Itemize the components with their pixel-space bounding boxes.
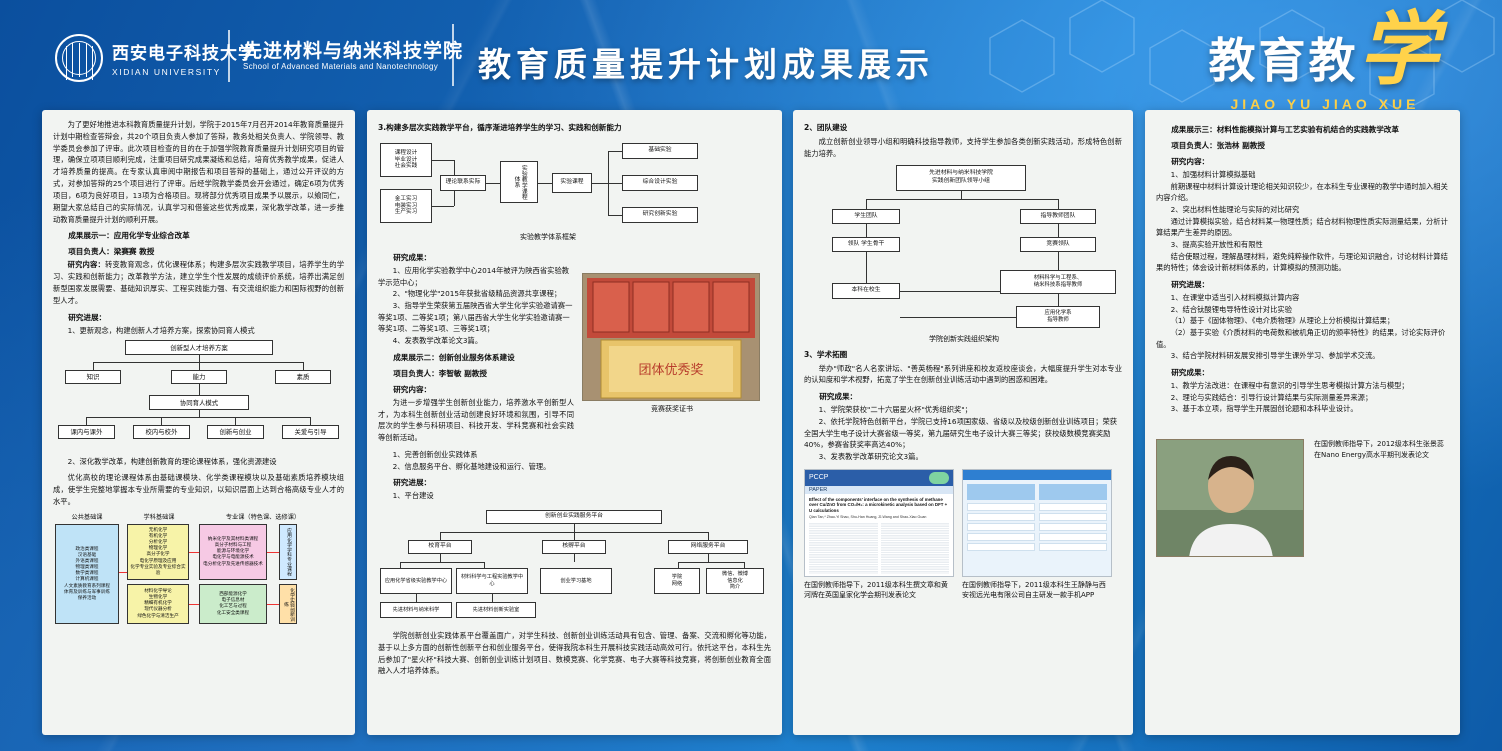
col1-ach1-leader-label: 项目负责人： xyxy=(68,247,114,256)
col4-leader-name: 张浩林 副教授 xyxy=(1217,141,1265,150)
list-item: 前期课程中材料计算设计理论相关知识较少，在本科生专业课程的教学中通时加入相关内容… xyxy=(1156,181,1449,204)
col2-progress-label: 研究进展： xyxy=(378,477,574,488)
plat-r3-1: 先进材料创新实验室 xyxy=(456,602,536,618)
column-4-panel: 成果展示三：材料性能模拟计算与工艺实验有机结合的实践教学改革 项目负责人：张浩林… xyxy=(1145,110,1460,735)
diagram2-right-label-1: 应用化学学科专业课程 xyxy=(279,524,297,580)
col4-results-label: 研究成果： xyxy=(1156,367,1449,378)
col1-intro: 为了更好地推进本科教育质量提升计划，学院于2015年7月召开2014年教育质量提… xyxy=(53,119,344,225)
list-item: 1、平台建设 xyxy=(378,490,574,502)
svg-text:团体优秀奖: 团体优秀奖 xyxy=(638,363,703,378)
award-certificates-photo: 团体优秀奖 xyxy=(582,273,760,401)
col3-results-label: 研究成果： xyxy=(804,391,1122,402)
col1-ach1-items-2: 2、深化教学改革，构建创新教育的理论课程体系，强化资源建设 xyxy=(53,456,344,468)
col4-results-list: 1、教学方法改进：在课程中有意识的引导学生思考模拟计算方法与模型； 2、理论与实… xyxy=(1156,380,1449,415)
plat-top: 创新创业实践服务平台 xyxy=(486,510,662,524)
col2-ach2-leader-label: 项目负责人： xyxy=(393,369,439,378)
diagram2-right-label-2: 化学实验创新训练 xyxy=(279,584,297,624)
list-item: （1）基于《固体物理》、《电介质物理》从理论上分析模拟计算结果； xyxy=(1156,315,1449,327)
school-name-cn: 先进材料与纳米科技学院 xyxy=(243,36,463,63)
journal-logo-icon xyxy=(929,472,949,484)
app-screenshot-thumbnail xyxy=(962,469,1112,577)
diagram2-header-0: 公共基础课 xyxy=(55,512,119,521)
exp-right-0: 基础实验 xyxy=(622,143,698,159)
list-item: 1、更新观念，构建创新人才培养方案，探索协同育人模式 xyxy=(53,325,344,337)
list-item: 1、教学方法改进：在课程中有意识的引导学生思考模拟计算方法与模型； xyxy=(1156,380,1449,392)
list-item: 2、依托学院特色创新平台，学院已支持16项国家级、省级以及校级创新创业训练项目；… xyxy=(804,416,1122,451)
col1-ach1-title: 成果展示一：应用化学专业综合改革 xyxy=(53,230,344,241)
list-item: 2、结合钛酸锂电导特性设计对比实验 xyxy=(1156,304,1449,316)
list-item: 2、突出材料性能理论与实际的对比研究 xyxy=(1156,204,1449,216)
org-student-leader: 领队 学生骨干 xyxy=(832,237,900,252)
col2-results-list: 1、应用化学实验教学中心2014年被评为陕西省实验教学示范中心； 2、"物理化学… xyxy=(378,265,574,347)
col1-ach1-content: 研究内容：转变教育观念，优化课程体系；构建多层次实践教学项目，培养学生的学习、实… xyxy=(53,259,344,306)
col2-ach2-content-label: 研究内容： xyxy=(378,384,574,395)
paper-col-right xyxy=(881,522,950,574)
list-item: 2、理论与实践结合：引导行设计算结果与实际测量差异来源； xyxy=(1156,392,1449,404)
app-caption: 在国例教师指导下，2011级本科生王静静与西安视远光电有限公司自主研发一款手机A… xyxy=(962,580,1112,600)
university-seal-icon xyxy=(55,34,103,82)
col1-ach1-content-label: 研究内容： xyxy=(68,260,105,269)
plat-r3-0: 先进材料与纳米科学 xyxy=(380,602,452,618)
org-faculty-dept: 材料科学与工程系、 纳米科技系指导教师 xyxy=(1000,270,1116,294)
header-divider-2 xyxy=(452,24,454,86)
org-competition-leader: 竞赛领队 xyxy=(1020,237,1096,252)
col2-progress-list: 1、平台建设 xyxy=(378,490,574,502)
diagram1-r2-3: 关爱与引导 xyxy=(282,425,339,439)
col2-ach2-content: 为进一步增强学生创新创业能力，培养激水平创新型人才，为本科生创新创业活动创建良好… xyxy=(378,397,574,444)
diagram1-knowledge: 知识 xyxy=(65,370,121,384)
list-item: 1、完善创新创业实践体系 xyxy=(378,449,574,461)
list-item: 3、指导学生荣获第五届陕西省大学生化学实验邀请赛一等奖1项、二等奖1项；第八届西… xyxy=(378,300,574,335)
diagram1-top-box: 创新型人才培养方案 xyxy=(125,340,273,355)
diagram1-ability: 能力 xyxy=(171,370,227,384)
school-name-en: School of Advanced Materials and Nanotec… xyxy=(243,62,438,71)
column-1-panel: 为了更好地推进本科教育质量提升计划，学院于2015年7月召开2014年教育质量提… xyxy=(42,110,355,735)
list-item: 3、发表教学改革研究论文3篇。 xyxy=(804,451,1122,463)
col1-ach1-leader: 项目负责人：梁赛赛 教授 xyxy=(53,246,344,257)
portrait-graphic xyxy=(1157,440,1304,557)
diagram2-major-courses-2: 西部能源化学 电子信息材 化工艺与过程 化工安全类课程 xyxy=(199,584,267,624)
page-title: 教育质量提升计划成果展示 xyxy=(478,38,934,86)
exp-left-box-1: 课程设计 毕业设计 社会实践 xyxy=(380,143,432,177)
col2-ach2-leader: 项目负责人：李智敏 副教授 xyxy=(378,368,574,379)
app-pane-left xyxy=(967,484,1035,551)
portrait-caption: 在国例教师指导下，2012级本科生张景蕊在Nano Energy高水平期刊发表论… xyxy=(1314,439,1444,461)
plat-r2-1: 材料科学与工程实验教学中心 xyxy=(456,568,528,594)
paper-title: Effect of the components' interface on t… xyxy=(809,497,949,514)
list-item: 3、提高实验开放性和有限性 xyxy=(1156,239,1449,251)
col4-content-label: 研究内容： xyxy=(1156,156,1449,167)
list-item: 2、深化教学改革，构建创新教育的理论课程体系，强化资源建设 xyxy=(53,456,344,468)
diagram2-discipline-courses-2: 材料化学导论 生物化学 精细有机化学 现代仪器分析 绿色化学与清洁生产 xyxy=(127,584,189,624)
brandmark-cn: 教育教学 xyxy=(1170,10,1480,90)
col1-para2: 优化高校的理论课程体系由基础课模块、化学类课程模块以及基础素质培养模块组成，使学… xyxy=(53,472,344,507)
col4-leader: 项目负责人：张浩林 副教授 xyxy=(1156,140,1449,151)
org-undergrad: 本科在校生 xyxy=(832,283,900,299)
list-item: 1、应用化学实验教学中心2014年被评为陕西省实验教学示范中心； xyxy=(378,265,574,288)
university-logo: 西安电子科技大学 XIDIAN UNIVERSITY xyxy=(55,34,256,82)
diagram2-header-1: 学科基础课 xyxy=(129,512,189,521)
diagram1-r2-2: 创新与创业 xyxy=(207,425,264,439)
list-item: 通过计算模拟实验，结合材料某一物理性质；结合材料物理性质实际测量结果，分析计算结… xyxy=(1156,216,1449,239)
list-item: 2、信息服务平台、孵化基地建设和运行、管理。 xyxy=(378,461,574,473)
plat-r1-1: 核孵平台 xyxy=(542,540,606,554)
col1-ach1-items: 1、更新观念，构建创新人才培养方案，探索协同育人模式 xyxy=(53,325,344,337)
brandmark-cn-big: 学 xyxy=(1359,3,1442,96)
paper-caption: 在国例教师指导下，2011级本科生撰文章和黄河牌在英国皇家化学会期刊发表论文 xyxy=(804,580,954,600)
plat-r2-3: 学院 网络 xyxy=(654,568,700,594)
student-portrait-photo xyxy=(1156,439,1304,557)
plat-r1-0: 校育平台 xyxy=(408,540,472,554)
col4-progress-label: 研究进展： xyxy=(1156,279,1449,290)
diagram1-mid: 协同育人模式 xyxy=(149,395,249,410)
list-item: 1、在课堂中适当引入材料模拟计算内容 xyxy=(1156,292,1449,304)
app-pane-right xyxy=(1039,484,1107,551)
org-teacher-team: 指导教师团队 xyxy=(1020,209,1096,224)
diagram1-quality: 素质 xyxy=(275,370,331,384)
plat-r2-4: 微信、微博 信息化 简介 xyxy=(706,568,764,594)
col4-ach3-title: 成果展示三：材料性能模拟计算与工艺实验有机结合的实践教学改革 xyxy=(1156,124,1449,135)
org-chart-caption: 学院创新实践组织架构 xyxy=(864,334,1064,344)
organization-chart: 先进材料与纳米科技学院 实践创新团队领导小组 学生团队 指导教师团队 领队 学生… xyxy=(804,165,1122,345)
diagram1-r2-0: 课内与课外 xyxy=(58,425,115,439)
org-top: 先进材料与纳米科技学院 实践创新团队领导小组 xyxy=(896,165,1026,191)
col4-content-list: 1、加强材料计算模拟基础 前期课程中材料计算设计理论相关知识较少，在本科生专业课… xyxy=(1156,169,1449,274)
col3-section3-text: 举办"师政"名人名家讲坛、"善英杨程"系列讲座和校友返校座谈会，大幅度提升学生对… xyxy=(804,363,1122,387)
column-3-panel: 2、团队建设 成立创新创业领导小组和明确科技指导教师，支持学生参加各类创新实践活… xyxy=(793,110,1133,735)
paper-section-label: PAPER xyxy=(805,486,953,494)
talent-training-diagram: 创新型人才培养方案 知识 能力 素质 协同育人模式 课内与课外 校内与校外 创新… xyxy=(53,340,344,452)
paper-col-left xyxy=(809,522,878,574)
exp-course: 实验课程 xyxy=(552,173,592,193)
poster-header: 西安电子科技大学 XIDIAN UNIVERSITY 先进材料与纳米科技学院 S… xyxy=(0,0,1502,104)
exp-right-2: 研究创新实验 xyxy=(622,207,698,223)
column-2-panel: 3.构建多层次实践教学平台，循序渐进培养学生的学习、实践和创新能力 课程设计 毕… xyxy=(367,110,782,735)
org-chem-teacher: 应用化学系 指导教师 xyxy=(1016,306,1100,328)
col2-results-label: 研究成果： xyxy=(378,252,574,263)
col2-section3-title: 3.构建多层次实践教学平台，循序渐进培养学生的学习、实践和创新能力 xyxy=(378,122,771,133)
paper-body-columns xyxy=(809,522,949,574)
paper-thumbnail: PCCP PAPER Effect of the components' int… xyxy=(804,469,954,577)
plat-r2-0: 应用化学省级实验教学中心 xyxy=(380,568,452,594)
exp-diagram-caption: 实验教学体系框架 xyxy=(488,232,608,242)
list-item: 2、"物理化学"2015年获批省级精品资源共享课程； xyxy=(378,288,574,300)
paper-authors: Qian Tan,* Zhao-Yi Shao, Shu-Han Huang, … xyxy=(809,515,949,519)
diagram2-discipline-courses: 无机化学 有机化学 分析化学 物理化学 高分子化学 电化学原理及应用 化学专业实… xyxy=(127,524,189,580)
col4-leader-label: 项目负责人： xyxy=(1171,141,1217,150)
list-item: （2）基于实验《介质材料的电荷数和被机角正切的颁率特性》的结果，讨论实际评价值。 xyxy=(1156,327,1449,350)
col3-section2-text: 成立创新创业领导小组和明确科技指导教师，支持学生参加各类创新实践活动，形成特色创… xyxy=(804,136,1122,160)
col3-results-list: 1、学院荣获校"二十六届星火杯"优秀组织奖"； 2、依托学院特色创新平台，学院已… xyxy=(804,404,1122,462)
exp-left-box-2: 金工实习 电装实习 生产实习 xyxy=(380,189,432,223)
university-name-cn: 西安电子科技大学 xyxy=(112,39,256,64)
diagram2-general-courses: 政治类课程 汉语基础 外语类课程 物理类课程 数学类课程 计算机课程 人文素质教… xyxy=(55,524,119,624)
exp-theory-practice: 理论联系实际 xyxy=(440,175,486,191)
col3-section3-title: 3、学术拓圈 xyxy=(804,349,1122,360)
paper-journal-header: PCCP xyxy=(805,470,953,486)
col1-ach1-leader-name: 梁赛赛 教授 xyxy=(114,247,155,256)
plat-r2-2: 创业学习基地 xyxy=(540,568,612,594)
org-student-team: 学生团队 xyxy=(832,209,900,224)
col1-ach1-progress-label: 研究进展： xyxy=(53,312,344,323)
university-name-en: XIDIAN UNIVERSITY xyxy=(112,67,256,77)
col2-ach2-title: 成果展示二：创新创业服务体系建设 xyxy=(378,352,574,363)
curriculum-diagram: 公共基础课 学科基础课 专业课（特色课、选修课） 政治类课程 汉语基础 外语类课… xyxy=(53,512,344,637)
header-divider-1 xyxy=(228,30,230,82)
award-photo-graphic: 团体优秀奖 xyxy=(583,274,760,401)
diagram2-header-2: 专业课（特色课、选修课） xyxy=(203,512,323,521)
col4-progress-list: 1、在课堂中适当引入材料模拟计算内容 2、结合钛酸锂电导特性设计对比实验 （1）… xyxy=(1156,292,1449,362)
col3-section2-title: 2、团队建设 xyxy=(804,122,1122,133)
list-item: 1、加强材料计算模拟基础 xyxy=(1156,169,1449,181)
experiment-framework-diagram: 课程设计 毕业设计 社会实践 金工实习 电装实习 生产实习 理论联系实际 实验教… xyxy=(378,137,771,245)
plat-r1-2: 网络服务平台 xyxy=(668,540,748,554)
diagram2-major-courses: 纳米化学及其材料类课程 高分子材料与工程 能源与环境化学 电化学与电能源技术 电… xyxy=(199,524,267,580)
list-item: 1、学院荣获校"二十六届星火杯"优秀组织奖"； xyxy=(804,404,1122,416)
award-photo-caption: 竞赛获奖证书 xyxy=(582,404,762,414)
exp-system: 实验教学课程体系 xyxy=(500,161,538,203)
list-item: 4、发表教学改革论文3篇。 xyxy=(378,335,574,347)
app-titlebar xyxy=(963,470,1111,480)
list-item: 结合使眼过程，理解晶理材料，避免纯粹操作软件，与理论知识融合，讨论材料计算结果的… xyxy=(1156,251,1449,274)
brandmark-cn-text: 教育教 xyxy=(1209,34,1359,89)
list-item: 3、结合学院材料研发展安排引导学生课外学习、参加学术交流。 xyxy=(1156,350,1449,362)
exp-right-1: 综合设计实验 xyxy=(622,175,698,191)
col2-ach2-items: 1、完善创新创业实践体系 2、信息服务平台、孵化基地建设和运行、管理。 xyxy=(378,449,574,472)
innovation-platform-diagram: 创新创业实践服务平台 校育平台 核孵平台 网络服务平台 应用化学省级实验教学中心… xyxy=(378,510,771,628)
paper-journal-name: PCCP xyxy=(809,474,828,481)
col2-ach2-leader-name: 李智敏 副教授 xyxy=(439,369,487,378)
list-item: 3、基于本立项，指导学生开展固创论题和本科毕业设计。 xyxy=(1156,403,1449,415)
col2-tail-paragraph: 学院创新创业实践体系平台覆盖面广，对学生科技、创新创业训练活动具有包含、管理、备… xyxy=(378,630,771,677)
diagram1-r2-1: 校内与校外 xyxy=(133,425,190,439)
